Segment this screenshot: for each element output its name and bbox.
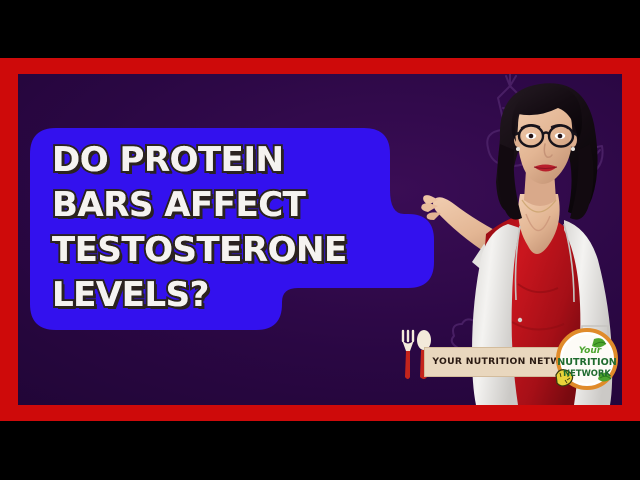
presenter-earring: [571, 147, 575, 151]
brand-strip: YOUR NUTRITION NETWORK: [390, 329, 622, 391]
letterbox-bar-top: [0, 0, 640, 58]
logo-line-3: NETWORK: [563, 368, 611, 378]
fork-icon: [402, 331, 414, 379]
brand-logo-badge: Your NUTRITION NETWORK: [554, 327, 620, 393]
logo-line-1: Your: [579, 346, 602, 356]
logo-line-2: NUTRITION: [557, 357, 617, 368]
headline-speech-bubble: Do Protein Bars Affect Testosterone Leve…: [30, 128, 434, 330]
presenter-earring: [516, 147, 520, 151]
thumbnail-root: Do Protein Bars Affect Testosterone Leve…: [0, 0, 640, 480]
thumbnail-canvas: Do Protein Bars Affect Testosterone Leve…: [18, 74, 622, 405]
letterbox-bar-bottom: [0, 421, 640, 480]
headline-text: Do Protein Bars Affect Testosterone Leve…: [52, 138, 432, 318]
